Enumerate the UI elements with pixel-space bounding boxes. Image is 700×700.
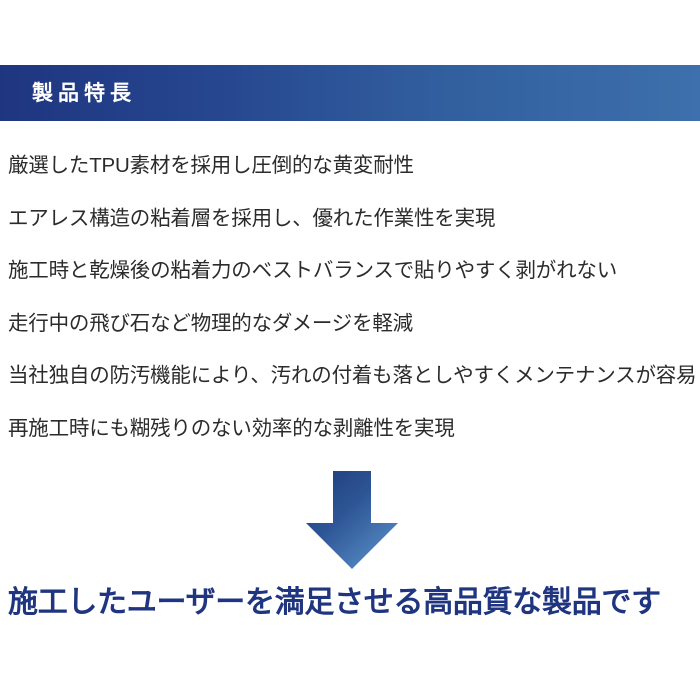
section-header-bar: 製品特長 <box>0 65 700 121</box>
arrow-down-icon <box>304 470 400 570</box>
feature-list-item: 当社独自の防汚機能により、汚れの付着も落としやすくメンテナンスが容易 <box>8 350 698 403</box>
product-features-panel: 製品特長 厳選したTPU素材を採用し圧倒的な黄変耐性 エアレス構造の粘着層を採用… <box>0 0 700 700</box>
feature-list-item: エアレス構造の粘着層を採用し、優れた作業性を実現 <box>8 193 698 246</box>
feature-list-item: 再施工時にも糊残りのない効率的な剥離性を実現 <box>8 403 698 456</box>
feature-list-item: 走行中の飛び石など物理的なダメージを軽減 <box>8 298 698 351</box>
feature-list-item: 厳選したTPU素材を採用し圧倒的な黄変耐性 <box>8 140 698 193</box>
feature-list-item: 施工時と乾燥後の粘着力のベストバランスで貼りやすく剥がれない <box>8 245 698 298</box>
closing-headline: 施工したユーザーを満足させる高品質な製品です <box>8 582 700 624</box>
section-header-title: 製品特長 <box>32 83 136 104</box>
feature-list: 厳選したTPU素材を採用し圧倒的な黄変耐性 エアレス構造の粘着層を採用し、優れた… <box>8 140 698 455</box>
